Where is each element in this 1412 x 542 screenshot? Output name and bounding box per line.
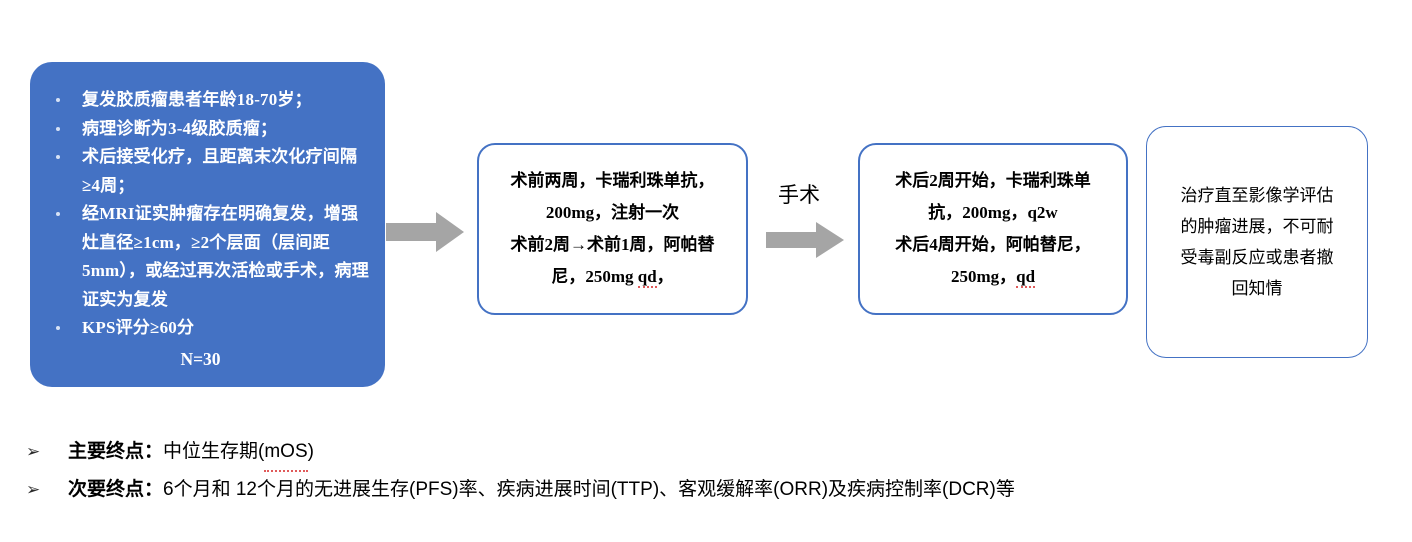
postop-line-2: 抗，200mg，q2w [928,203,1057,222]
bullet-dot-icon [56,155,60,159]
criteria-item-text: 经MRI证实肿瘤存在明确复发，增强灶直径≥1cm，≥2个层面（层间距5mm），或… [82,204,369,309]
list-item: 复发胶质瘤患者年龄18-70岁； [48,86,371,115]
postoperative-treatment-box: 术后2周开始，卡瑞利珠单 抗，200mg，q2w 术后4周开始，阿帕替尼， 25… [858,143,1128,315]
postoperative-treatment-text: 术后2周开始，卡瑞利珠单 抗，200mg，q2w 术后4周开始，阿帕替尼， 25… [885,165,1101,293]
treatment-duration-text: 治疗直至影像学评估 的肿瘤进展，不可耐 受毒副反应或患者撤 回知情 [1167,180,1348,304]
right-arrow-icon [386,212,464,257]
primary-endpoint-label: 主要终点： [68,434,163,470]
duration-line-4: 回知情 [1232,279,1283,298]
treatment-duration-box: 治疗直至影像学评估 的肿瘤进展，不可耐 受毒副反应或患者撤 回知情 [1146,126,1368,358]
duration-line-2: 的肿瘤进展，不可耐 [1181,217,1334,236]
preop-line-4-dose: qd [638,267,657,288]
preoperative-treatment-text: 术前两周，卡瑞利珠单抗， 200mg，注射一次 术前2周→术前1周，阿帕替 尼，… [501,165,725,293]
inclusion-criteria-box: 复发胶质瘤患者年龄18-70岁； 病理诊断为3-4级胶质瘤； 术后接受化疗，且距… [30,62,385,387]
list-item: KPS评分≥60分 [48,314,371,343]
list-item: 术后接受化疗，且距离末次化疗间隔≥4周； [48,143,371,200]
preop-line-1: 术前两周，卡瑞利珠单抗， [511,171,715,190]
right-arrow-icon [766,222,844,263]
list-item: 经MRI证实肿瘤存在明确复发，增强灶直径≥1cm，≥2个层面（层间距5mm），或… [48,200,371,314]
criteria-item-text: 复发胶质瘤患者年龄18-70岁； [82,90,312,109]
postop-line-4-dose: qd [1016,267,1035,288]
primary-endpoint-row: ➢ 主要终点： 中位生存期(mOS) [26,434,1366,472]
postop-line-1: 术后2周开始，卡瑞利珠单 [895,171,1091,190]
surgery-step-label: 手术 [778,185,820,206]
bullet-dot-icon [56,98,60,102]
inclusion-criteria-list: 复发胶质瘤患者年龄18-70岁； 病理诊断为3-4级胶质瘤； 术后接受化疗，且距… [30,62,385,343]
arrowhead-bullet-icon: ➢ [26,472,68,508]
preop-line-3: 术前2周→术前1周，阿帕替 [511,235,715,254]
secondary-endpoint-label: 次要终点： [68,472,163,508]
preop-line-4-prefix: 尼，250mg [551,267,637,286]
criteria-item-text: KPS评分≥60分 [82,318,194,337]
endpoints-section: ➢ 主要终点： 中位生存期(mOS) ➢ 次要终点： 6个月和 12个月的无进展… [26,434,1366,508]
preoperative-treatment-box: 术前两周，卡瑞利珠单抗， 200mg，注射一次 术前2周→术前1周，阿帕替 尼，… [477,143,748,315]
bullet-dot-icon [56,212,60,216]
duration-line-3: 受毒副反应或患者撤 [1181,248,1334,267]
list-item: 病理诊断为3-4级胶质瘤； [48,115,371,144]
postop-line-4-prefix: 250mg， [951,267,1016,286]
preop-line-4-suffix: ， [657,267,674,286]
preop-line-2: 200mg，注射一次 [546,203,679,222]
arrowhead-bullet-icon: ➢ [26,434,68,470]
secondary-endpoint-row: ➢ 次要终点： 6个月和 12个月的无进展生存(PFS)率、疾病进展时间(TTP… [26,472,1366,508]
primary-endpoint-suffix: ) [308,434,314,470]
bullet-dot-icon [56,127,60,131]
criteria-item-text: 病理诊断为3-4级胶质瘤； [82,119,277,138]
secondary-endpoint-text: 6个月和 12个月的无进展生存(PFS)率、疾病进展时间(TTP)、客观缓解率(… [163,472,1015,508]
bullet-dot-icon [56,326,60,330]
sample-size-label: N=30 [30,345,385,373]
primary-endpoint-prefix: 中位生存期( [163,434,264,470]
postop-line-3: 术后4周开始，阿帕替尼， [895,235,1091,254]
duration-line-1: 治疗直至影像学评估 [1181,186,1334,205]
primary-endpoint-abbrev: mOS [264,434,307,472]
criteria-item-text: 术后接受化疗，且距离末次化疗间隔≥4周； [82,147,357,195]
